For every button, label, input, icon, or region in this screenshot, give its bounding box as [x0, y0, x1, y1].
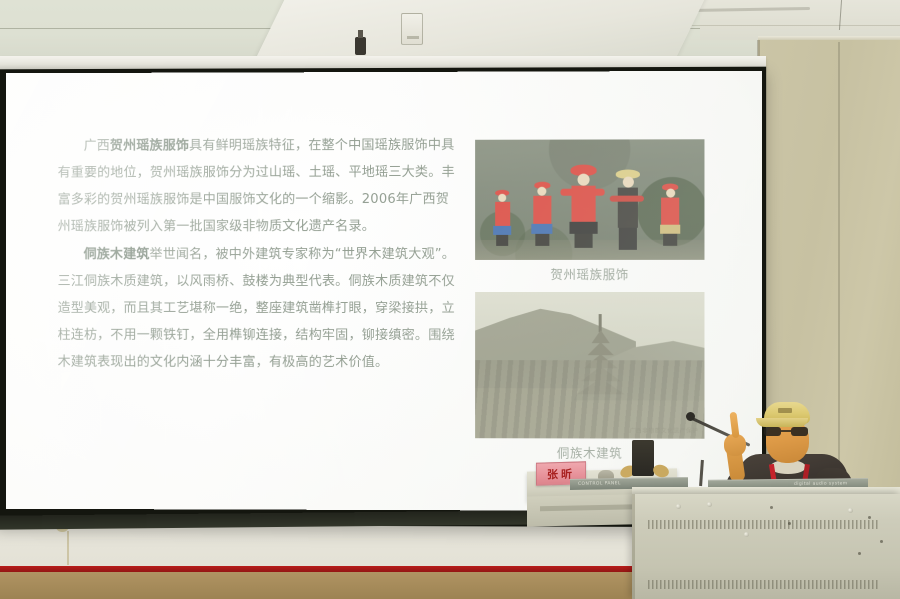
podium-screw: [744, 532, 749, 537]
ceiling-beam: [255, 0, 709, 60]
ceiling-sensor-icon: [355, 37, 366, 55]
yao-costume-photo: [475, 139, 704, 260]
slide-figures: 贺州瑶族服饰: [470, 131, 709, 491]
paragraph-2-rest: 举世闻名，被中外建筑专家称为“世界木建筑大观”。三江侗族木质建筑，以风雨桥、鼓楼…: [58, 247, 456, 370]
podium-screw: [676, 504, 681, 509]
podium-vent: [648, 520, 878, 529]
figure-yao-costume: 贺州瑶族服饰: [470, 139, 709, 292]
figure-dong-architecture: 广西非物质文化遗产保护 侗族木建筑: [470, 292, 709, 471]
photo-watermark: 广西非物质文化遗产保护: [630, 427, 699, 435]
podium-speck: [788, 522, 791, 525]
podium-speck: [868, 516, 871, 519]
slide-paragraph-2: 侗族木建筑举世闻名，被中外建筑专家称为“世界木建筑大观”。三江侗族木质建筑，以风…: [58, 241, 456, 376]
podium-screw: [848, 508, 853, 513]
ceiling-speaker-icon: [401, 13, 423, 45]
figure-caption-yao-costume: 贺州瑶族服饰: [550, 260, 628, 292]
paragraph-2-lead-bold: 侗族木建筑: [84, 247, 150, 262]
microphone-icon[interactable]: [686, 412, 695, 421]
paragraph-1-lead-plain: 广西: [84, 139, 110, 154]
rail-label-left: CONTROL PANEL: [578, 481, 621, 487]
costume-person-tall: [616, 170, 640, 250]
podium-screw: [707, 502, 712, 507]
costume-person: [493, 190, 511, 246]
podium-left-edge: [632, 494, 635, 599]
cap-logo-icon: [778, 408, 792, 413]
tower-spire: [599, 314, 602, 332]
presenter-cap-brim: [756, 418, 808, 427]
podium-cabinet: [632, 494, 900, 599]
slide-paragraph-1: 广西贺州瑶族服饰具有鲜明瑶族特征，在整个中国瑶族服饰中具有重要的地位，贺州瑶族服…: [58, 132, 456, 240]
podium-speck: [880, 540, 883, 543]
podium-vent: [648, 580, 878, 589]
podium-speck: [770, 506, 773, 509]
podium-speck: [858, 552, 861, 555]
costume-person-center: [569, 165, 597, 248]
costume-person: [531, 182, 552, 246]
paragraph-1-lead-bold: 贺州瑶族服饰: [110, 138, 189, 153]
slide-body-text: 广西贺州瑶族服饰具有鲜明瑶族特征，在整个中国瑶族服饰中具有重要的地位，贺州瑶族服…: [58, 132, 456, 490]
wall-drip: [67, 531, 69, 565]
lecture-hall-scene: 广西贺州瑶族服饰具有鲜明瑶族特征，在整个中国瑶族服饰中具有重要的地位，贺州瑶族服…: [0, 0, 900, 599]
costume-person: [660, 184, 680, 246]
ceiling-panel-right: [700, 0, 900, 40]
desk-device[interactable]: [632, 440, 654, 476]
dong-architecture-photo: 广西非物质文化遗产保护: [475, 292, 704, 439]
glasses-icon: [764, 427, 810, 436]
